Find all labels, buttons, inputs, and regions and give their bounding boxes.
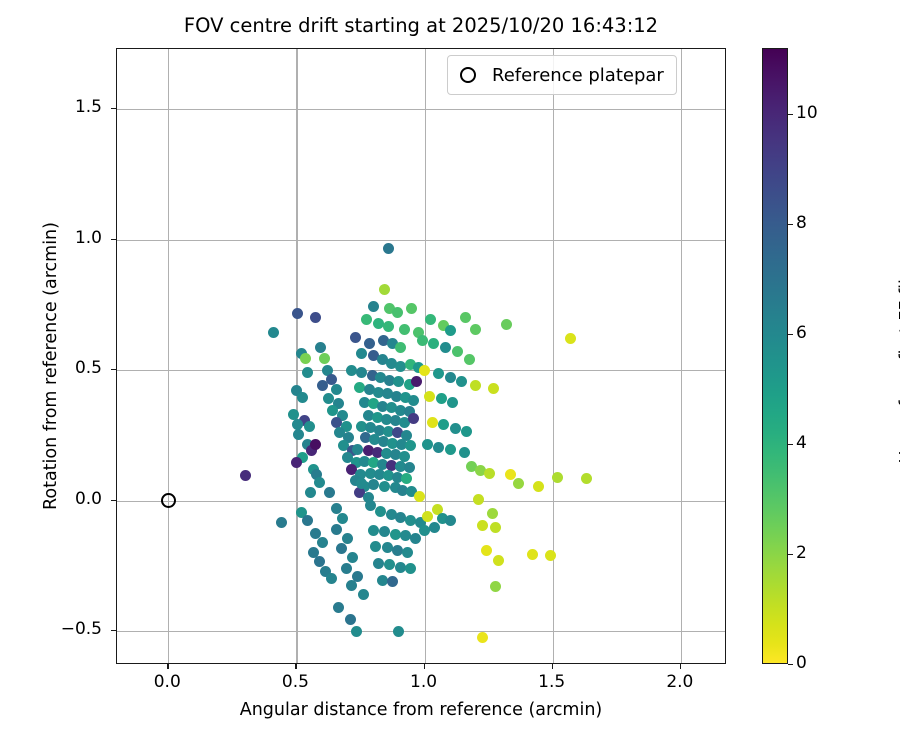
x-axis-label: Angular distance from reference (arcmin) xyxy=(116,700,726,720)
scatter-point xyxy=(379,481,390,492)
colorbar-tick xyxy=(788,114,793,115)
x-axis-tick xyxy=(680,664,681,669)
gridline-horizontal xyxy=(117,109,725,110)
scatter-point xyxy=(473,494,484,505)
scatter-point xyxy=(383,321,394,332)
scatter-point xyxy=(356,367,367,378)
scatter-point xyxy=(405,440,416,451)
scatter-point xyxy=(477,520,488,531)
gridline-vertical xyxy=(553,49,554,663)
gridline-vertical xyxy=(425,49,426,663)
scatter-point xyxy=(404,462,415,473)
scatter-point xyxy=(419,365,430,376)
x-axis-tick-label: 1.5 xyxy=(512,672,592,692)
scatter-point xyxy=(384,559,395,570)
scatter-point xyxy=(326,573,337,584)
y-axis-tick xyxy=(111,369,116,370)
gridline-vertical xyxy=(168,49,169,663)
x-axis-tick xyxy=(424,664,425,669)
scatter-point xyxy=(292,308,303,319)
colorbar-tick xyxy=(788,664,793,665)
scatter-point xyxy=(490,581,501,592)
scatter-point xyxy=(456,376,467,387)
scatter-point xyxy=(399,324,410,335)
y-axis-tick xyxy=(111,500,116,501)
scatter-point xyxy=(395,512,406,523)
scatter-point xyxy=(433,368,444,379)
colorbar: 0246810 xyxy=(762,48,788,664)
scatter-point xyxy=(383,243,394,254)
scatter-point xyxy=(297,392,308,403)
colorbar-gradient xyxy=(762,48,788,664)
scatter-point xyxy=(460,312,471,323)
scatter-point xyxy=(450,423,461,434)
x-axis-tick-label: 0.0 xyxy=(127,672,207,692)
page-title: FOV centre drift starting at 2025/10/20 … xyxy=(116,14,726,37)
scatter-point xyxy=(438,419,449,430)
scatter-point xyxy=(302,367,313,378)
scatter-point xyxy=(304,421,315,432)
scatter-point xyxy=(302,515,313,526)
scatter-point xyxy=(368,301,379,312)
y-axis-tick-label: 1.0 xyxy=(22,228,102,248)
scatter-point xyxy=(336,543,347,554)
scatter-point xyxy=(337,513,348,524)
scatter-point xyxy=(379,284,390,295)
scatter-point xyxy=(395,342,406,353)
scatter-point xyxy=(422,511,433,522)
scatter-point xyxy=(501,319,512,330)
scatter-point xyxy=(424,391,435,402)
scatter-point xyxy=(364,338,375,349)
scatter-point xyxy=(484,468,495,479)
scatter-point xyxy=(352,444,363,455)
colorbar-tick-label: 0 xyxy=(796,653,807,673)
scatter-point xyxy=(350,332,361,343)
scatter-point xyxy=(436,393,447,404)
scatter-point xyxy=(314,477,325,488)
scatter-point xyxy=(351,626,362,637)
scatter-point xyxy=(445,515,456,526)
scatter-point xyxy=(393,376,404,387)
x-axis-tick xyxy=(552,664,553,669)
scatter-point xyxy=(581,473,592,484)
scatter-point xyxy=(406,303,417,314)
scatter-point xyxy=(310,439,321,450)
scatter-point xyxy=(358,589,369,600)
scatter-point xyxy=(331,417,342,428)
scatter-point xyxy=(433,442,444,453)
scatter-point xyxy=(331,503,342,514)
colorbar-tick-label: 10 xyxy=(796,103,818,123)
scatter-point xyxy=(319,353,330,364)
scatter-point xyxy=(477,632,488,643)
scatter-point xyxy=(268,327,279,338)
scatter-point xyxy=(324,487,335,498)
figure-canvas: FOV centre drift starting at 2025/10/20 … xyxy=(0,0,900,750)
colorbar-tick xyxy=(788,224,793,225)
scatter-point xyxy=(402,547,413,558)
scatter-point xyxy=(276,517,287,528)
y-axis-tick-label: 0.0 xyxy=(22,489,102,509)
scatter-point xyxy=(445,325,456,336)
scatter-point xyxy=(493,555,504,566)
scatter-point xyxy=(310,312,321,323)
scatter-point xyxy=(379,526,390,537)
scatter-point xyxy=(425,314,436,325)
scatter-point xyxy=(459,447,470,458)
scatter-point xyxy=(470,380,481,391)
scatter-point xyxy=(300,353,311,364)
scatter-point xyxy=(461,426,472,437)
y-axis-tick-label: −0.5 xyxy=(22,619,102,639)
scatter-point xyxy=(393,626,404,637)
y-axis-tick-label: 1.5 xyxy=(22,97,102,117)
colorbar-tick-label: 4 xyxy=(796,433,807,453)
scatter-point xyxy=(342,533,353,544)
scatter-point xyxy=(291,457,302,468)
scatter-point xyxy=(565,333,576,344)
scatter-point xyxy=(346,580,357,591)
x-axis-tick xyxy=(295,664,296,669)
scatter-point xyxy=(552,472,563,483)
x-axis-tick-label: 0.5 xyxy=(255,672,335,692)
scatter-point xyxy=(481,545,492,556)
scatter-point xyxy=(361,314,372,325)
gridline-horizontal xyxy=(117,240,725,241)
y-axis-label: Rotation from reference (arcmin) xyxy=(41,201,61,531)
x-axis-tick xyxy=(167,664,168,669)
scatter-plot-axes xyxy=(116,48,726,664)
scatter-point xyxy=(288,409,299,420)
scatter-point xyxy=(440,342,451,353)
open-circle-icon xyxy=(460,67,476,83)
scatter-point xyxy=(331,524,342,535)
legend-box[interactable]: Reference platepar xyxy=(447,55,677,95)
y-axis-tick xyxy=(111,630,116,631)
colorbar-tick xyxy=(788,334,793,335)
scatter-point xyxy=(410,533,421,544)
y-axis-tick-label: 0.5 xyxy=(22,358,102,378)
gridline-vertical xyxy=(681,49,682,663)
scatter-point xyxy=(370,541,381,552)
scatter-point xyxy=(399,451,410,462)
scatter-point xyxy=(341,563,352,574)
scatter-point xyxy=(445,444,456,455)
scatter-point xyxy=(405,563,416,574)
scatter-point xyxy=(317,380,328,391)
scatter-point xyxy=(445,372,456,383)
scatter-point xyxy=(333,602,344,613)
colorbar-tick-label: 2 xyxy=(796,543,807,563)
scatter-point xyxy=(470,324,481,335)
scatter-point xyxy=(331,384,342,395)
scatter-point xyxy=(408,395,419,406)
scatter-point xyxy=(513,478,524,489)
scatter-point xyxy=(315,342,326,353)
scatter-point xyxy=(395,361,406,372)
scatter-point xyxy=(401,473,412,484)
legend-entry-label: Reference platepar xyxy=(492,65,664,86)
scatter-point xyxy=(545,550,556,561)
scatter-point xyxy=(392,307,403,318)
scatter-point xyxy=(408,413,419,424)
scatter-point xyxy=(487,508,498,519)
scatter-point xyxy=(354,382,365,393)
scatter-point xyxy=(527,549,538,560)
gridline-horizontal xyxy=(117,631,725,632)
scatter-point xyxy=(464,354,475,365)
colorbar-tick-label: 8 xyxy=(796,213,807,233)
scatter-point xyxy=(533,481,544,492)
x-axis-tick-label: 2.0 xyxy=(640,672,720,692)
colorbar-tick xyxy=(788,554,793,555)
y-axis-tick xyxy=(111,239,116,240)
scatter-point xyxy=(411,376,422,387)
scatter-point xyxy=(293,429,304,440)
reference-platepar-marker xyxy=(161,493,176,508)
scatter-point xyxy=(368,479,379,490)
scatter-point xyxy=(452,346,463,357)
scatter-point xyxy=(356,348,367,359)
scatter-point xyxy=(488,383,499,394)
scatter-point xyxy=(373,558,384,569)
scatter-point xyxy=(490,522,501,533)
scatter-point xyxy=(422,439,433,450)
colorbar-tick-label: 6 xyxy=(796,323,807,343)
scatter-point xyxy=(317,537,328,548)
scatter-point xyxy=(414,491,425,502)
scatter-point xyxy=(345,614,356,625)
scatter-point xyxy=(428,338,439,349)
scatter-point xyxy=(368,525,379,536)
scatter-point xyxy=(429,522,440,533)
scatter-point xyxy=(427,417,438,428)
scatter-point xyxy=(387,576,398,587)
colorbar-tick xyxy=(788,444,793,445)
y-axis-tick xyxy=(111,108,116,109)
scatter-point xyxy=(305,487,316,498)
x-axis-tick-label: 1.0 xyxy=(384,672,464,692)
scatter-point xyxy=(417,335,428,346)
scatter-point xyxy=(390,529,401,540)
scatter-point xyxy=(347,552,358,563)
scatter-point xyxy=(240,470,251,481)
scatter-point xyxy=(447,397,458,408)
scatter-point xyxy=(375,506,386,517)
